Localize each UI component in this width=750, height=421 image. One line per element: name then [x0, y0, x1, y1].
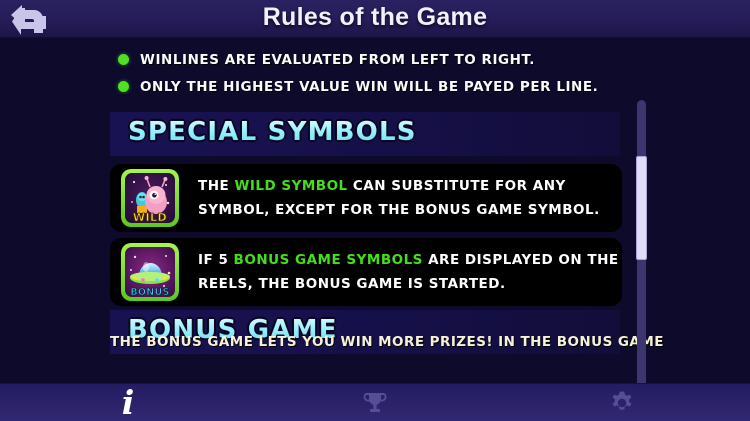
- svg-text:BONUS: BONUS: [130, 287, 169, 298]
- trophy-icon: [362, 390, 388, 416]
- bonus-description-line-2: REELS, THE BONUS GAME IS STARTED.: [198, 272, 608, 296]
- bullet-text: WINLINES ARE EVALUATED FROM LEFT TO RIGH…: [140, 52, 535, 68]
- wild-description-line-2: SYMBOL, EXCEPT FOR THE BONUS GAME SYMBOL…: [198, 198, 608, 222]
- rules-scrollbar-thumb[interactable]: [636, 156, 647, 260]
- page-title: Rules of the Game: [0, 3, 750, 32]
- rules-scrollbar-track[interactable]: [637, 100, 646, 383]
- rules-bullet-list: WINLINES ARE EVALUATED FROM LEFT TO RIGH…: [118, 46, 628, 100]
- bottom-toolbar: i: [0, 383, 750, 421]
- wild-description: THE WILD SYMBOL CAN SUBSTITUTE FOR ANY S…: [198, 174, 608, 222]
- list-item: ONLY THE HIGHEST VALUE WIN WILL BE PAYED…: [118, 73, 628, 100]
- rules-of-the-game-screen: Rules of the Game WINLINES ARE EVALUATED…: [0, 0, 750, 421]
- wild-description-line-1: THE WILD SYMBOL CAN SUBSTITUTE FOR ANY: [198, 174, 608, 198]
- section-title: SPECIAL SYMBOLS: [128, 117, 417, 147]
- bonus-description: IF 5 BONUS GAME SYMBOLS ARE DISPLAYED ON…: [198, 248, 608, 296]
- rules-content: WINLINES ARE EVALUATED FROM LEFT TO RIGH…: [0, 38, 750, 383]
- info-tab-button[interactable]: i: [68, 384, 188, 421]
- info-icon: i: [122, 386, 135, 419]
- bonus-ufo-symbol: BONUS: [121, 243, 179, 301]
- gear-icon: [609, 390, 635, 416]
- bonus-description-line-1: IF 5 BONUS GAME SYMBOLS ARE DISPLAYED ON…: [198, 248, 608, 272]
- section-header-special-symbols: SPECIAL SYMBOLS: [110, 112, 620, 156]
- list-item: WINLINES ARE EVALUATED FROM LEFT TO RIGH…: [118, 46, 628, 73]
- bullet-text: ONLY THE HIGHEST VALUE WIN WILL BE PAYED…: [140, 79, 598, 95]
- header-bar: Rules of the Game: [0, 0, 750, 38]
- special-symbol-row-wild: WILD THE WILD SYMBOL CAN SUBSTITUTE FOR …: [110, 164, 622, 232]
- svg-text:WILD: WILD: [133, 211, 167, 224]
- wild-alien-symbol: WILD: [121, 169, 179, 227]
- bullet-dot-icon: [118, 81, 129, 92]
- bonus-game-teaser-text: THE BONUS GAME LETS YOU WIN MORE PRIZES!…: [110, 334, 622, 350]
- settings-tab-button[interactable]: [562, 384, 682, 421]
- achievements-tab-button[interactable]: [315, 384, 435, 421]
- bullet-dot-icon: [118, 54, 129, 65]
- special-symbol-row-bonus: BONUS IF 5 BONUS GAME SYMBOLS ARE DISPLA…: [110, 238, 622, 306]
